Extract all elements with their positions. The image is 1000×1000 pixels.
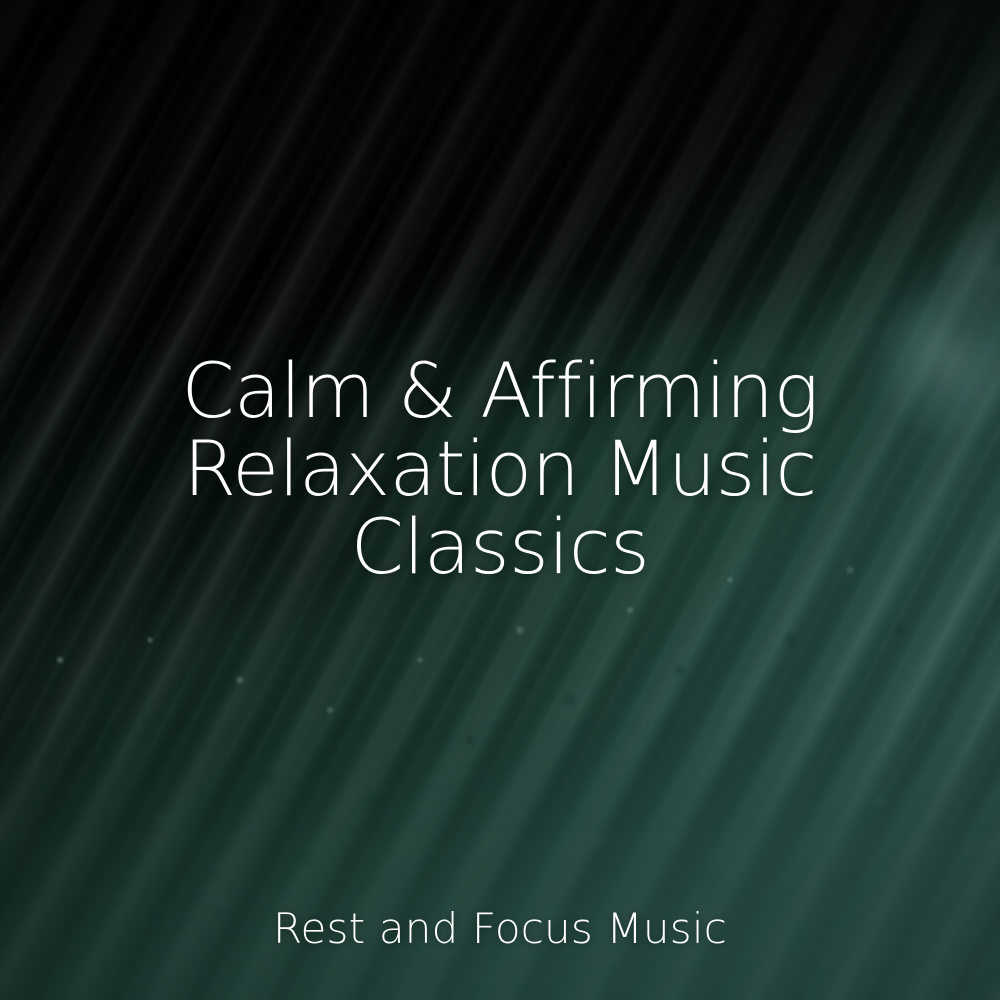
album-title-line-3: Classics [0,508,1000,586]
album-title-line-1: Calm & Affirming [0,352,1000,430]
cover-text-layer: Calm & Affirming Relaxation Music Classi… [0,0,1000,1000]
album-title-line-2: Relaxation Music [0,430,1000,508]
album-artist: Rest and Focus Music [0,905,1000,953]
album-cover: Calm & Affirming Relaxation Music Classi… [0,0,1000,1000]
album-title: Calm & Affirming Relaxation Music Classi… [0,352,1000,586]
